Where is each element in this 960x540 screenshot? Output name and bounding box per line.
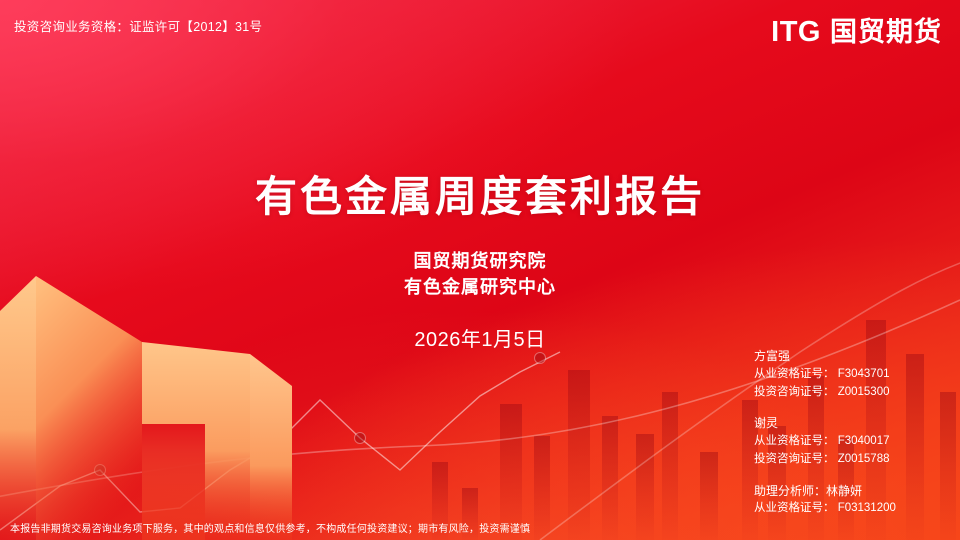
institute-name: 国贸期货研究院 <box>0 248 960 274</box>
decorative-data-point <box>535 353 546 364</box>
analyst-name: 方富强 <box>754 347 944 366</box>
analyst-practice-number: 从业资格证号： F03131200 <box>754 500 944 518</box>
company-logo: ITG 国贸期货 <box>771 18 942 47</box>
logo-company-name: 国贸期货 <box>830 19 942 46</box>
analyst-consulting-number: 投资咨询证号： Z0015788 <box>754 451 944 469</box>
analyst-entry: 方富强从业资格证号： F3043701投资咨询证号： Z0015300 <box>754 347 944 401</box>
qualification-note: 投资咨询业务资格：证监许可【2012】31号 <box>14 16 262 35</box>
analyst-consulting-number: 投资咨询证号： Z0015300 <box>754 384 944 402</box>
slide-canvas: 投资咨询业务资格：证监许可【2012】31号 ITG 国贸期货 有色金属周度套利… <box>0 0 960 540</box>
analyst-entry: 助理分析师：林静妍从业资格证号： F03131200 <box>754 482 944 518</box>
report-title: 有色金属周度套利报告 <box>0 172 960 222</box>
analyst-practice-number: 从业资格证号： F3040017 <box>754 433 944 451</box>
analyst-practice-number: 从业资格证号： F3043701 <box>754 366 944 384</box>
analyst-entry: 谢灵从业资格证号： F3040017投资咨询证号： Z0015788 <box>754 414 944 468</box>
analyst-credentials: 方富强从业资格证号： F3043701投资咨询证号： Z0015300谢灵从业资… <box>754 347 944 518</box>
decorative-data-point <box>355 433 366 444</box>
research-center-name: 有色金属研究中心 <box>0 274 960 300</box>
logo-mark-itg: ITG <box>771 18 821 47</box>
footer-disclaimer: 本报告非期货交易咨询业务项下服务，其中的观点和信息仅供参考，不构成任何投资建议；… <box>10 520 530 535</box>
analyst-name: 助理分析师：林静妍 <box>754 482 944 501</box>
department-block: 国贸期货研究院 有色金属研究中心 <box>0 248 960 300</box>
cover-text-block: 有色金属周度套利报告 国贸期货研究院 有色金属研究中心 2026年1月5日 <box>0 172 960 352</box>
analyst-name: 谢灵 <box>754 414 944 433</box>
